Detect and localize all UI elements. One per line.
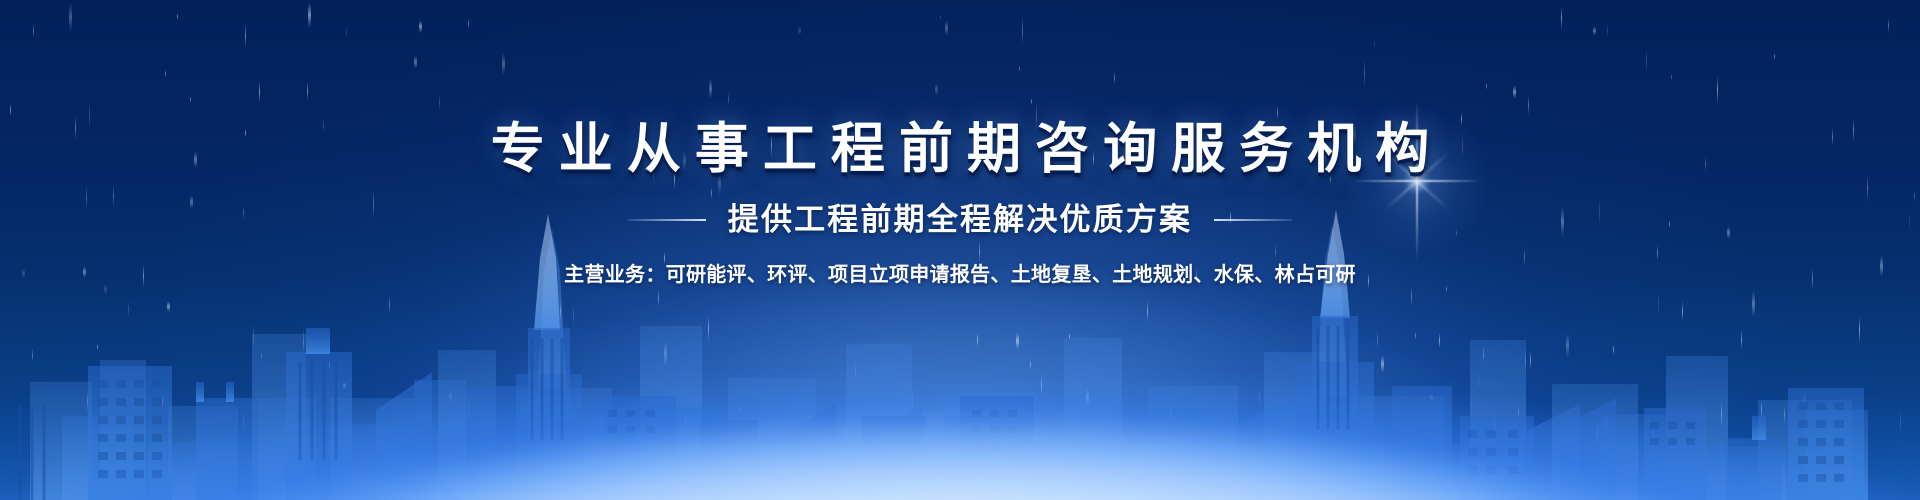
particle-streak [1486,82,1487,90]
particle-streak [1462,133,1463,160]
particle-streak [323,118,324,134]
city-skyline-silhouette [0,210,1920,500]
particle-streak [1671,73,1672,82]
particle-streak [346,27,347,38]
page-subtitle: 提供工程前期全程解决优质方案 [728,204,1192,235]
particle-streak [711,187,712,200]
particle-streak [728,92,729,106]
particle-streak [1705,155,1706,172]
particle-streak [245,23,246,47]
particle-streak [1019,65,1020,72]
particle-streak [194,151,197,168]
particle-streak [1717,75,1718,105]
particle-streak [502,52,505,76]
hero-banner: 专业从事工程前期咨询服务机构 提供工程前期全程解决优质方案 主营业务：可研能评、… [0,0,1920,500]
particle-streak [468,18,469,28]
particle-streak [75,114,76,141]
particle-streak [1867,174,1868,202]
particle-streak [1774,53,1775,60]
particle-streak [940,14,941,21]
particle-streak [10,103,11,117]
particle-streak [1593,26,1596,36]
particle-streak [1914,190,1915,204]
particle-streak [1277,105,1278,120]
particle-streak [1031,98,1032,105]
subtitle-row: 提供工程前期全程解决优质方案 [628,204,1292,235]
particle-streak [1513,85,1516,99]
particle-streak [1646,48,1647,74]
particle-streak [414,55,417,70]
particle-streak [33,23,34,38]
particle-streak [1607,23,1608,38]
particle-streak [1888,18,1889,33]
particle-streak [798,26,801,35]
particle-streak [1022,16,1023,46]
divider-rule-left [628,219,706,221]
particle-streak [439,93,440,111]
particle-streak [190,195,193,209]
particle-streak [89,99,90,130]
particle-streak [69,2,72,32]
particle-streak [1374,41,1375,48]
particle-streak [259,80,260,105]
particle-streak [165,70,166,76]
particle-streak [86,185,87,210]
particle-streak [1832,127,1833,147]
particle-streak [945,20,948,36]
particle-streak [113,183,114,208]
particle-streak [308,2,311,28]
services-line: 主营业务：可研能评、环评、项目立项申请报告、土地复垦、土地规划、水保、林占可研 [564,265,1356,285]
page-title: 专业从事工程前期咨询服务机构 [477,122,1444,176]
divider-rule-right [1214,219,1292,221]
particle-streak [935,83,938,96]
particle-streak [1461,112,1462,126]
particle-streak [177,13,178,20]
particle-streak [307,81,308,101]
particle-streak [419,20,422,34]
particle-streak [1114,71,1115,85]
particle-streak [1853,118,1854,143]
particle-streak [190,96,191,104]
particle-streak [1528,94,1529,117]
particle-streak [709,78,712,99]
particle-streak [1561,5,1562,30]
particle-streak [1364,58,1365,88]
particle-streak [245,128,246,138]
